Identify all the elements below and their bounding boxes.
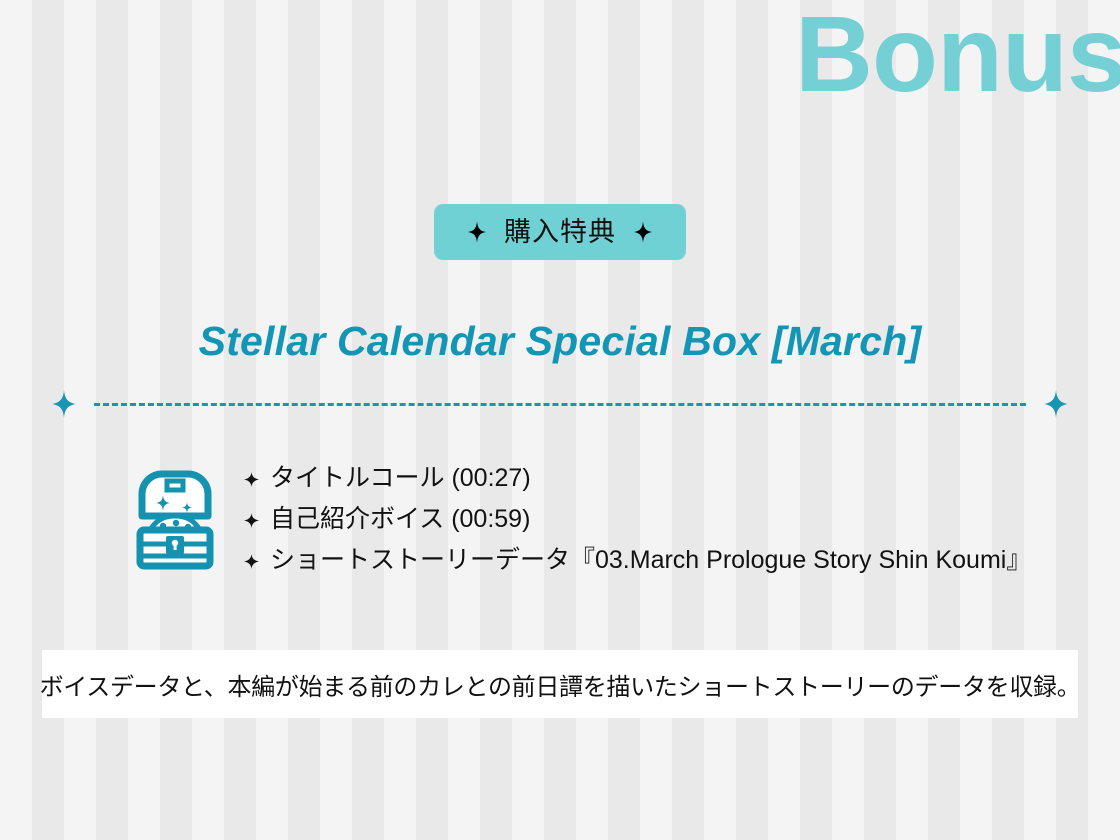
list-item-label: ショートストーリーデータ『03.March Prologue Story Shi… — [270, 540, 1031, 581]
page-title: Bonus — [795, 0, 1120, 116]
sparkle-icon-bullet — [244, 541, 259, 556]
product-title: Stellar Calendar Special Box [March] — [0, 318, 1120, 365]
list-item: 自己紹介ボイス (00:59) — [244, 499, 1031, 540]
caption-box: ボイスデータと、本編が始まる前のカレとの前日譚を描いたショートストーリーのデータ… — [42, 650, 1078, 718]
sparkle-icon-right — [634, 221, 652, 243]
sparkle-icon-divider-right — [1044, 390, 1068, 418]
sparkle-icon-bullet — [244, 500, 259, 515]
treasure-chest-icon — [132, 464, 218, 574]
divider — [52, 390, 1068, 418]
list-item-label: 自己紹介ボイス (00:59) — [270, 499, 530, 540]
caption-text: ボイスデータと、本編が始まる前のカレとの前日譚を描いたショートストーリーのデータ… — [40, 667, 1081, 702]
bonus-contents: タイトルコール (00:27) 自己紹介ボイス (00:59) ショートストーリ… — [132, 458, 1031, 581]
badge-label: 購入特典 — [504, 219, 616, 246]
purchase-bonus-badge: 購入特典 — [434, 204, 686, 260]
bonus-page: Bonus 購入特典 Stellar Calendar Special Box … — [0, 0, 1120, 840]
list-item: タイトルコール (00:27) — [244, 458, 1031, 499]
sparkle-icon-bullet — [244, 459, 259, 474]
divider-line — [94, 403, 1026, 406]
bonus-item-list: タイトルコール (00:27) 自己紹介ボイス (00:59) ショートストーリ… — [244, 458, 1031, 581]
sparkle-icon-divider-left — [52, 390, 76, 418]
list-item-label: タイトルコール (00:27) — [270, 458, 531, 499]
sparkle-icon-left — [468, 221, 486, 243]
list-item: ショートストーリーデータ『03.March Prologue Story Shi… — [244, 540, 1031, 581]
